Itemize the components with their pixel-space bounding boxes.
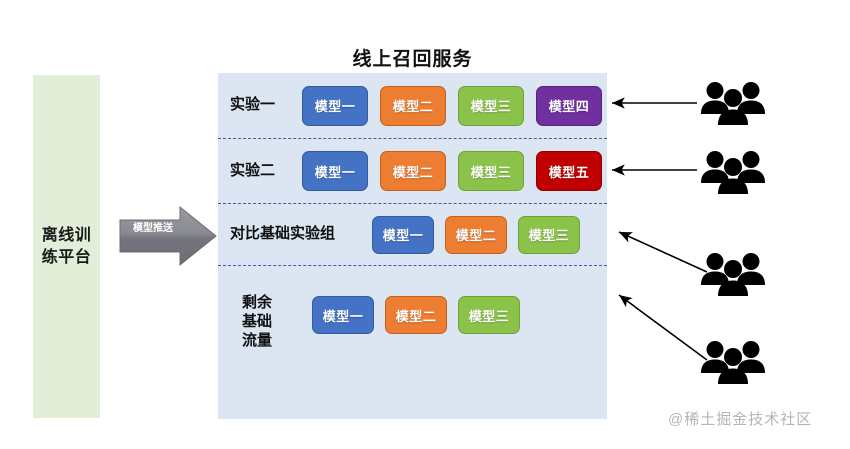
model-chip[interactable]: 模型五 <box>536 151 602 191</box>
chip-group-remaining-traffic: 模型一 模型二 模型三 <box>312 266 520 334</box>
row-label-baseline-control-group: 对比基础实验组 <box>218 225 372 244</box>
model-chip[interactable]: 模型四 <box>536 86 602 126</box>
right-arrow-icon <box>118 205 218 267</box>
chip-group-baseline-control: 模型一 模型二 模型三 <box>372 216 580 254</box>
user-group-icon <box>700 81 766 126</box>
model-chip[interactable]: 模型二 <box>380 86 446 126</box>
model-chip[interactable]: 模型一 <box>302 151 368 191</box>
online-recall-service-panel: 实验一 模型一 模型二 模型三 模型四 实验二 模型一 模型二 模型三 模型五 … <box>218 73 607 419</box>
offline-training-platform-box: 离线训 练平台 <box>33 75 100 418</box>
model-chip[interactable]: 模型二 <box>380 151 446 191</box>
model-chip[interactable]: 模型三 <box>458 151 524 191</box>
chip-group-experiment-one: 模型一 模型二 模型三 模型四 <box>302 86 602 126</box>
baseline-control-group-row: 对比基础实验组 模型一 模型二 模型三 <box>218 203 607 265</box>
model-chip[interactable]: 模型二 <box>445 216 507 254</box>
row-label-experiment-one: 实验一 <box>218 96 302 115</box>
model-chip[interactable]: 模型三 <box>458 86 524 126</box>
diagram-canvas: 离线训 练平台 模型推送 线上召回服务 实验一 模型一 模型二 模型 <box>0 0 850 449</box>
model-chip[interactable]: 模型三 <box>458 296 520 334</box>
row-label-experiment-two: 实验二 <box>218 162 302 181</box>
model-chip[interactable]: 模型二 <box>385 296 447 334</box>
experiment-row-one: 实验一 模型一 模型二 模型三 模型四 <box>218 73 607 138</box>
remaining-base-traffic-row: 剩余 基础 流量 模型一 模型二 模型三 <box>218 265 607 419</box>
user-group-icon <box>700 150 766 195</box>
model-chip[interactable]: 模型三 <box>518 216 580 254</box>
model-push-label: 模型推送 <box>122 224 184 234</box>
arrow-to-remaining-base-traffic <box>619 295 707 360</box>
experiment-row-two: 实验二 模型一 模型二 模型三 模型五 <box>218 138 607 203</box>
model-chip[interactable]: 模型一 <box>302 86 368 126</box>
model-push-arrow: 模型推送 <box>118 205 218 267</box>
model-chip[interactable]: 模型一 <box>312 296 374 334</box>
user-group-icon <box>700 252 766 297</box>
model-chip[interactable]: 模型一 <box>372 216 434 254</box>
row-label-remaining-base-traffic: 剩余 基础 流量 <box>218 266 312 350</box>
user-group-icon <box>700 340 766 385</box>
arrow-to-baseline-control-group <box>619 232 707 272</box>
chip-group-experiment-two: 模型一 模型二 模型三 模型五 <box>302 151 602 191</box>
watermark: @稀土掘金技术社区 <box>668 408 812 429</box>
offline-training-platform-label: 离线训 练平台 <box>42 225 92 268</box>
page-title: 线上召回服务 <box>218 44 607 71</box>
